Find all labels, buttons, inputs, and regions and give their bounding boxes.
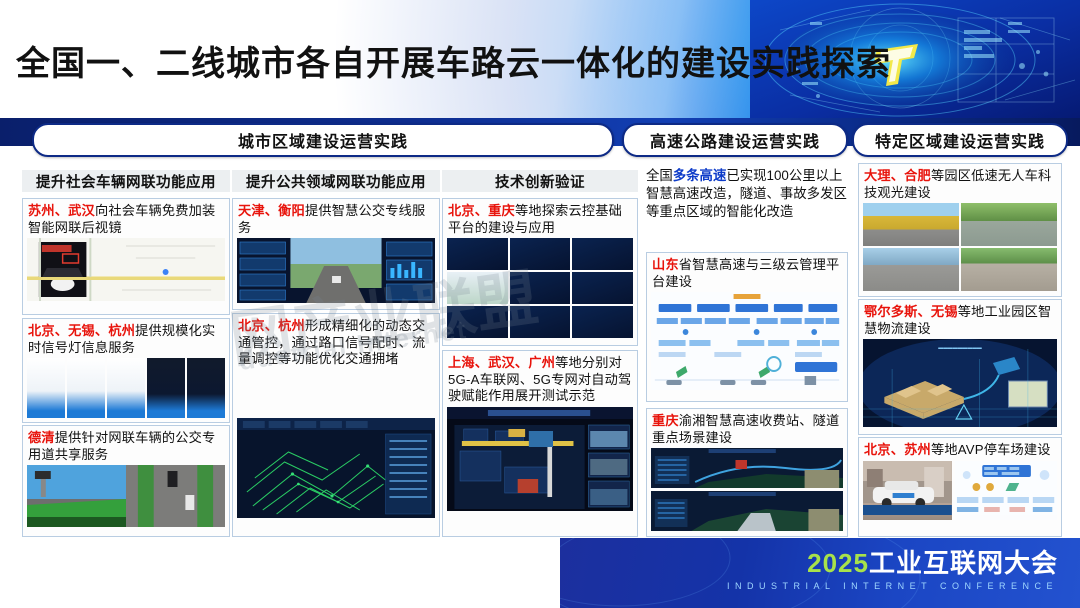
highway-intro-text: 全国多条高速已实现100公里以上智慧高速改造，隧道、事故多发区等重点区域的智能化…: [646, 167, 848, 221]
page-footer: 2025工业互联网大会 INDUSTRIAL INTERNET CONFEREN…: [560, 538, 1080, 608]
card-beijing-chongqing[interactable]: 北京、重庆等地探索云控基础平台的建设与应用: [442, 198, 638, 346]
card-caption: 德清提供针对网联车辆的公交专用道共享服务: [23, 426, 229, 465]
card-erdos-wuxi[interactable]: 鄂尔多斯、无锡等地工业园区智慧物流建设 ▬▬▬▬▬▬▬▬▬: [858, 299, 1062, 435]
card-spacer: [233, 370, 439, 418]
thumb-phone: [147, 358, 185, 418]
thumb-cell: [572, 272, 633, 304]
card-thumb-wrap: [859, 203, 1061, 295]
card-chongqing-yuxiang[interactable]: 重庆渝湘智慧高速收费站、隧道重点场景建设: [646, 408, 848, 537]
thumb-5ga-demo: [447, 407, 633, 511]
card-caption: 北京、重庆等地探索云控基础平台的建设与应用: [443, 199, 637, 238]
column-header-public-domain: 提升公共领域网联功能应用: [232, 170, 440, 192]
card-thumb-wrap: ▬▬▬▬▬▬▬▬▬: [859, 339, 1061, 431]
logo-name-cn: 工业互联网大会: [869, 548, 1058, 578]
section-pill-city[interactable]: 城市区域建设运营实践: [32, 123, 614, 157]
card-dali-hefei[interactable]: 大理、合肥等园区低速无人车科技观光建设: [858, 163, 1062, 297]
thumb-phone: [67, 358, 105, 418]
card-thumb-wrap: [443, 407, 637, 515]
thumb-smart-logistics: ▬▬▬▬▬▬▬▬▬: [863, 339, 1057, 427]
card-caption: 天津、衡阳提供智慧公交专线服务: [233, 199, 439, 238]
thumb-phone: [187, 358, 225, 418]
thumb-phone-grid: [27, 358, 225, 418]
thumb-tollgate-2: [651, 491, 843, 531]
thumb-cell: [447, 238, 508, 270]
card-caption: 大理、合肥等园区低速无人车科技观光建设: [859, 164, 1061, 203]
thumb-cloud-arch-diagram: [651, 292, 843, 390]
card-suzhou-wuhan[interactable]: 苏州、武汉向社会车辆免费加装智能网联后视镜: [22, 198, 230, 315]
card-caption: 鄂尔多斯、无锡等地工业园区智慧物流建设: [859, 300, 1061, 339]
thumb-photo: [961, 203, 1057, 246]
thumb-cell: [447, 306, 508, 338]
card-thumb-wrap: [647, 292, 847, 394]
column-header-tech-innov: 技术创新验证: [442, 170, 638, 192]
thumb-cloud-platform-grid: [447, 238, 633, 338]
thumb-cell: [572, 306, 633, 338]
column-header-social-vehicle: 提升社会车辆网联功能应用: [22, 170, 230, 192]
thumb-cell: [572, 238, 633, 270]
card-shanghai-wuhan-guangzhou[interactable]: 上海、武汉、广州等地分别对5G-A车联网、5G专网对自动驾驶赋能作用展开测试示范: [442, 350, 638, 537]
thumb-cell: [447, 272, 508, 304]
card-beijing-suzhou-avp[interactable]: 北京、苏州等地AVP停车场建设: [858, 437, 1062, 537]
thumb-park-photos: [863, 203, 1057, 291]
card-caption: 苏州、武汉向社会车辆免费加装智能网联后视镜: [23, 199, 229, 238]
card-thumb-wrap: [23, 358, 229, 422]
thumb-phone: [27, 358, 65, 418]
thumb-traffic-network: [237, 418, 435, 518]
card-caption: 上海、武汉、广州等地分别对5G-A车联网、5G专网对自动驾驶赋能作用展开测试示范: [443, 351, 637, 407]
thumb-cell: [510, 238, 571, 270]
thumb-avp-diagram: [955, 461, 1057, 520]
conference-logo: 2025工业互联网大会 INDUSTRIAL INTERNET CONFEREN…: [727, 550, 1058, 591]
card-beijing-wuxi-hangzhou[interactable]: 北京、无锡、杭州提供规模化实时信号灯信息服务: [22, 318, 230, 423]
card-shandong[interactable]: 山东省智慧高速与三级云管理平台建设: [646, 252, 848, 402]
card-caption: 重庆渝湘智慧高速收费站、隧道重点场景建设: [647, 409, 847, 448]
card-thumb-wrap: [23, 238, 229, 305]
logo-year: 2025: [807, 548, 869, 578]
thumb-cell: [510, 306, 571, 338]
card-tianjin-hengyang[interactable]: 天津、衡阳提供智慧公交专线服务: [232, 198, 440, 310]
svg-text:▬▬▬▬▬▬▬▬▬: ▬▬▬▬▬▬▬▬▬: [938, 346, 982, 351]
card-caption: 北京、苏州等地AVP停车场建设: [859, 438, 1061, 461]
thumb-bus-lane: [27, 465, 225, 527]
card-thumb-wrap: [233, 238, 439, 307]
thumb-cell: [510, 272, 571, 304]
thumb-avp-pair: [863, 461, 1057, 515]
card-deqing[interactable]: 德清提供针对网联车辆的公交专用道共享服务: [22, 425, 230, 537]
card-thumb-wrap: [233, 418, 439, 522]
thumb-photo: [961, 248, 1057, 291]
card-caption: 北京、无锡、杭州提供规模化实时信号灯信息服务: [23, 319, 229, 358]
card-caption: 北京、杭州形成精细化的动态交通管控，通过路口信号配时、流量调控等功能优化交通拥堵: [233, 314, 439, 370]
thumb-bus-dashboard: [237, 238, 435, 303]
thumb-photo: [863, 248, 959, 291]
card-thumb-wrap: [23, 465, 229, 531]
card-beijing-hangzhou[interactable]: 北京、杭州形成精细化的动态交通管控，通过路口信号配时、流量调控等功能优化交通拥堵: [232, 313, 440, 537]
thumb-phone: [107, 358, 145, 418]
thumb-map-mirror: [27, 238, 225, 301]
card-thumb-wrap: [647, 448, 847, 535]
section-pill-zone[interactable]: 特定区域建设运营实践: [852, 123, 1068, 157]
card-caption: 山东省智慧高速与三级云管理平台建设: [647, 253, 847, 292]
thumb-tollgate-1: [651, 448, 843, 488]
card-thumb-wrap: [443, 238, 637, 342]
page-header: 全国一、二线城市各自开展车路云一体化的建设实践探索: [0, 0, 1080, 118]
page-title: 全国一、二线城市各自开展车路云一体化的建设实践探索: [16, 36, 891, 85]
thumb-garage-photo: [863, 461, 952, 520]
section-pill-highway[interactable]: 高速公路建设运营实践: [622, 123, 848, 157]
thumb-photo: [863, 203, 959, 246]
logo-name-en: INDUSTRIAL INTERNET CONFERENCE: [727, 582, 1058, 591]
card-thumb-wrap: [859, 461, 1061, 519]
